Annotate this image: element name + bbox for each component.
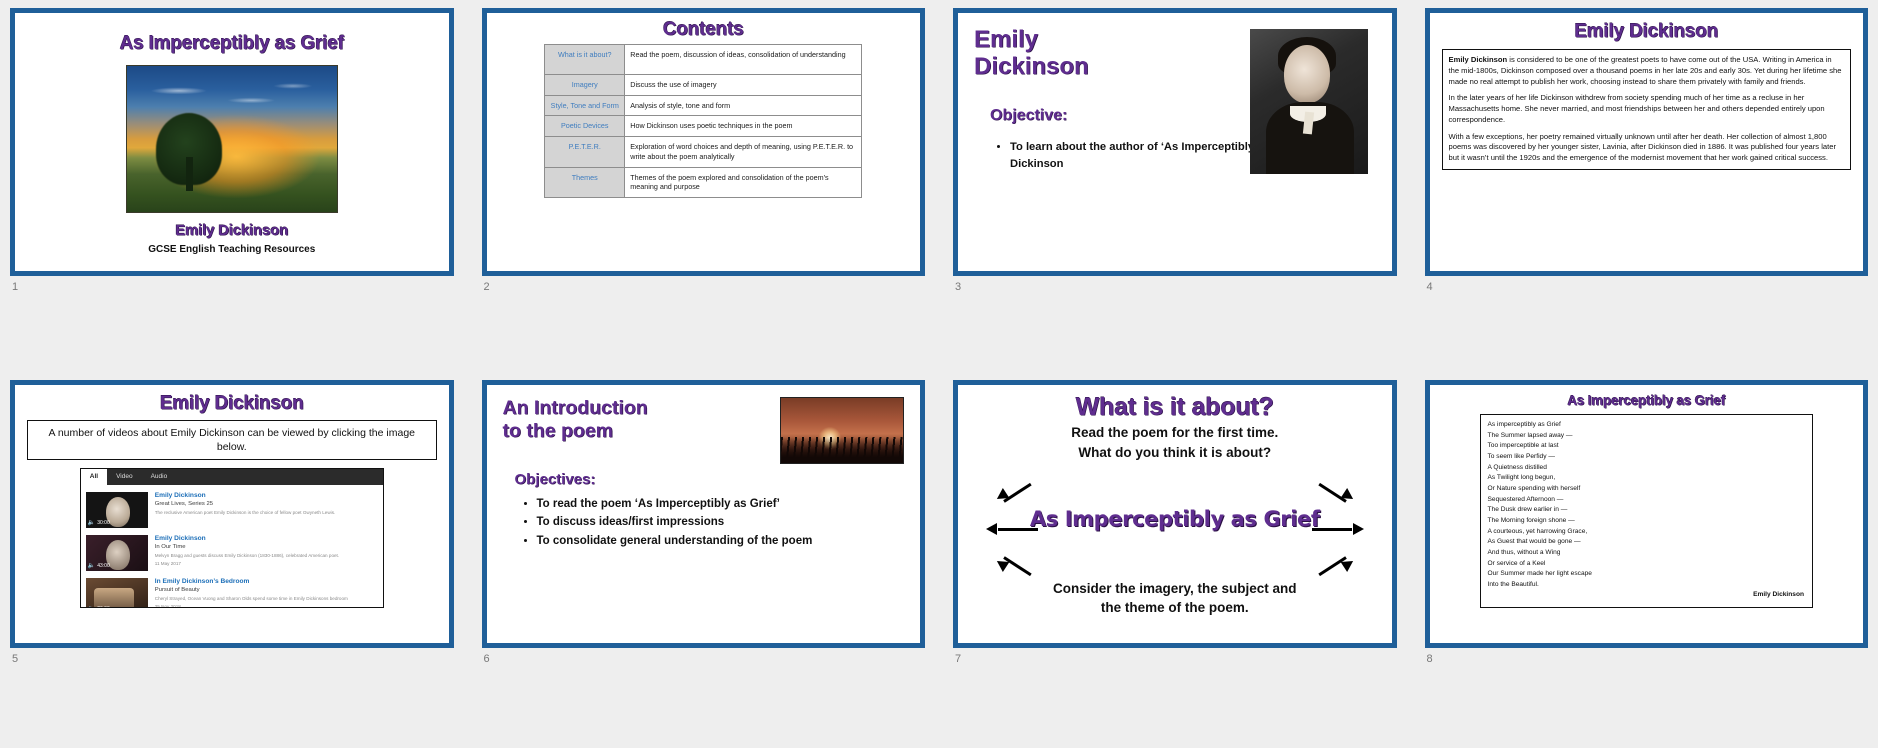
portrait-face [1284,45,1330,103]
video-callout-text: A number of videos about Emily Dickinson… [27,420,437,460]
slide-6-title-line1: An Introduction [503,397,718,420]
poem-line: Sequestered Afternoon — [1488,495,1806,506]
slide-7-line1: Read the poem for the first time. [970,424,1380,442]
wordart-area: As Imperceptibly as Grief [970,466,1380,578]
slide-cell-3: Emily Dickinson Objective: To learn abou… [953,8,1397,368]
video-thumbnail: 🔈 30:00 [86,492,148,528]
arrow-left-icon [986,522,1038,536]
slide-6-objectives-list: To read the poem ‘As Imperceptibly as Gr… [529,496,905,549]
poem-line: As Twilight long begun, [1488,473,1806,484]
poem-line: As imperceptibly as Grief [1488,420,1806,431]
poem-line: As Guest that would be gone — [1488,537,1806,548]
duration-badge: 🔈 30:00 [88,520,110,526]
slide-4[interactable]: Emily Dickinson Emily Dickinson is consi… [1425,8,1869,276]
table-row: What is it about? Read the poem, discuss… [545,45,862,75]
slide-cell-8: As Imperceptibly as Grief As imperceptib… [1425,380,1869,740]
video-description: Cheryl Strayed, Ocean Vuong and Sharon O… [155,596,378,602]
video-meta: In Emily Dickinson’s Bedroom Pursuit of … [155,578,378,608]
slide-2-title: Contents [497,19,911,41]
video-meta: Emily Dickinson Great Lives, Series 25 T… [155,492,378,528]
table-row: Style, Tone and Form Analysis of style, … [545,95,862,116]
slide-7-wordart: As Imperceptibly as Grief [1030,507,1320,531]
video-series: Pursuit of Beauty [155,587,378,595]
table-row: Poetic Devices How Dickinson uses poetic… [545,116,862,137]
slide-6-objectives-label: Objectives: [515,471,905,488]
arrow-right-icon [1312,522,1364,536]
slide-5[interactable]: Emily Dickinson A number of videos about… [10,380,454,648]
video-date: 25 Nov 2018 [155,604,378,608]
slide-number-2: 2 [484,281,926,293]
poem-line: Too imperceptible at last [1488,441,1806,452]
poem-line: Our Summer made her light escape [1488,569,1806,580]
poem-line: A courteous, yet harrowing Grace, [1488,527,1806,538]
slide-cell-1: As Imperceptibly as Grief Emily Dickinso… [10,8,454,368]
arrow-up-right-icon [1314,488,1354,514]
duration-badge: 🔈 26:00 [88,606,110,608]
table-row: Imagery Discuss the use of imagery [545,75,862,96]
video-listing-screenshot[interactable]: All Video Audio 🔈 30:00 [80,468,384,608]
bio-paragraph-2: In the later years of her life Dickinson… [1449,93,1845,125]
slide-7-line2: What do you think it is about? [970,444,1380,462]
video-date: 11 May 2017 [155,561,378,566]
slide-7-footer2: the theme of the poem. [970,599,1380,617]
video-listing-tabs: All Video Audio [81,469,383,485]
slide-5-title: Emily Dickinson [27,393,437,415]
poem-line: To seem like Perfidy — [1488,452,1806,463]
portrait-ribbon [1302,112,1313,135]
list-item[interactable]: 🔈 43:00 Emily Dickinson In Our Time Melv… [86,532,378,575]
duration-value: 30:00 [97,520,110,526]
poem-line: The Summer lapsed away — [1488,431,1806,442]
video-description: Melvyn Bragg and guests discuss Emily Di… [155,553,378,559]
slide-7-footer1: Consider the imagery, the subject and [970,580,1380,598]
bullet-post: ’ [777,498,780,510]
speaker-icon: 🔈 [88,520,95,526]
table-row: P.E.T.E.R. Exploration of word choices a… [545,137,862,167]
list-item: To discuss ideas/first impressions [537,514,905,530]
slide-1[interactable]: As Imperceptibly as Grief Emily Dickinso… [10,8,454,276]
thumbnail-room [94,588,134,608]
contents-topic: P.E.T.E.R. [545,137,625,167]
sunset-tree-image [126,65,338,213]
list-item[interactable]: 🔈 26:00 In Emily Dickinson’s Bedroom Pur… [86,575,378,608]
video-series: In Our Time [155,544,378,552]
slide-4-title: Emily Dickinson [1442,21,1852,43]
video-thumbnail: 🔈 43:00 [86,535,148,571]
arrow-down-right-icon [1314,544,1354,570]
video-results-list: 🔈 30:00 Emily Dickinson Great Lives, Ser… [81,485,383,608]
slide-number-5: 5 [12,653,454,665]
list-item: To read the poem ‘As Imperceptibly as Gr… [537,496,905,512]
contents-detail: Discuss the use of imagery [625,75,862,96]
slide-number-4: 4 [1427,281,1869,293]
slide-number-8: 8 [1427,653,1869,665]
emily-dickinson-portrait [1250,29,1368,174]
arrow-up-left-icon [996,488,1036,514]
contents-topic: What is it about? [545,45,625,75]
slide-6-title-line2: to the poem [503,420,718,443]
slide-1-footer: GCSE English Teaching Resources [29,244,435,255]
slide-6[interactable]: An Introduction to the poem Objectives: … [482,380,926,648]
bullet-strong: As Imperceptibly as Grief [638,498,777,510]
video-description: The reclusive American poet Emily Dickin… [155,510,378,516]
slide-number-1: 1 [12,281,454,293]
poem-line: The Morning foreign shone — [1488,516,1806,527]
list-item[interactable]: 🔈 30:00 Emily Dickinson Great Lives, Ser… [86,489,378,532]
poem-line: The Dusk drew earlier in — [1488,505,1806,516]
speaker-icon: 🔈 [88,563,95,569]
contents-detail: Read the poem, discussion of ideas, cons… [625,45,862,75]
slide-1-title: As Imperceptibly as Grief [29,33,435,55]
cloud-streaks [139,78,320,110]
tab-video[interactable]: Video [107,469,142,485]
table-row: Themes Themes of the poem explored and c… [545,167,862,197]
list-item: To consolidate general understanding of … [537,533,905,549]
contents-topic: Poetic Devices [545,116,625,137]
poem-line: Into the Beautiful. [1488,580,1806,591]
slide-2[interactable]: Contents What is it about? Read the poem… [482,8,926,276]
bullet-pre: To read the poem ‘ [537,498,638,510]
contents-detail: Analysis of style, tone and form [625,95,862,116]
video-meta: Emily Dickinson In Our Time Melvyn Bragg… [155,535,378,571]
poem-line: Or service of a Keel [1488,559,1806,570]
bio-paragraph-3: With a few exceptions, her poetry remain… [1449,132,1845,164]
bio-paragraph-1-text: is considered to be one of the greatest … [1449,55,1842,86]
contents-topic: Themes [545,167,625,197]
poem-line: A Quietness distilled [1488,463,1806,474]
contents-detail: How Dickinson uses poetic techniques in … [625,116,862,137]
slide-cell-4: Emily Dickinson Emily Dickinson is consi… [1425,8,1869,368]
slide-3[interactable]: Emily Dickinson Objective: To learn abou… [953,8,1397,276]
slide-cell-5: Emily Dickinson A number of videos about… [10,380,454,740]
bio-lead-name: Emily Dickinson [1449,55,1508,64]
slide-number-6: 6 [484,653,926,665]
slide-cell-2: Contents What is it about? Read the poem… [482,8,926,368]
video-thumbnail: 🔈 26:00 [86,578,148,608]
contents-detail: Themes of the poem explored and consolid… [625,167,862,197]
slide-number-3: 3 [955,281,1397,293]
biography-textbox: Emily Dickinson is considered to be one … [1442,49,1852,170]
video-title[interactable]: Emily Dickinson [155,492,378,500]
slide-number-7: 7 [955,653,1397,665]
contents-table: What is it about? Read the poem, discuss… [544,44,862,198]
slide-8-title: As Imperceptibly as Grief [1442,393,1852,408]
poem-line: Or Nature spending with herself [1488,484,1806,495]
slide-7-title: What is it about? [970,393,1380,422]
poem-line: And thus, without a Wing [1488,548,1806,559]
slide-cell-7: What is it about? Read the poem for the … [953,380,1397,740]
arrow-down-left-icon [996,544,1036,570]
tab-all[interactable]: All [81,469,107,485]
slide-cell-6: An Introduction to the poem Objectives: … [482,380,926,740]
slide-7[interactable]: What is it about? Read the poem for the … [953,380,1397,648]
video-title[interactable]: In Emily Dickinson’s Bedroom [155,578,378,586]
contents-topic: Style, Tone and Form [545,95,625,116]
duration-badge: 🔈 43:00 [88,563,110,569]
sunset-reeds-image [780,397,904,464]
poem-textbox: As imperceptibly as Grief The Summer lap… [1480,414,1814,608]
tab-audio[interactable]: Audio [142,469,177,485]
contents-detail: Exploration of word choices and depth of… [625,137,862,167]
video-series: Great Lives, Series 25 [155,501,378,509]
video-title[interactable]: Emily Dickinson [155,535,378,543]
poem-author: Emily Dickinson [1753,590,1804,601]
slide-8[interactable]: As Imperceptibly as Grief As imperceptib… [1425,380,1869,648]
bio-paragraph-1: Emily Dickinson is considered to be one … [1449,55,1845,87]
duration-value: 26:00 [97,606,110,608]
duration-value: 43:00 [97,563,110,569]
contents-topic: Imagery [545,75,625,96]
slide-1-subtitle: Emily Dickinson [29,222,435,239]
slide-thumbnail-grid: As Imperceptibly as Grief Emily Dickinso… [0,0,1878,748]
speaker-icon: 🔈 [88,606,95,608]
